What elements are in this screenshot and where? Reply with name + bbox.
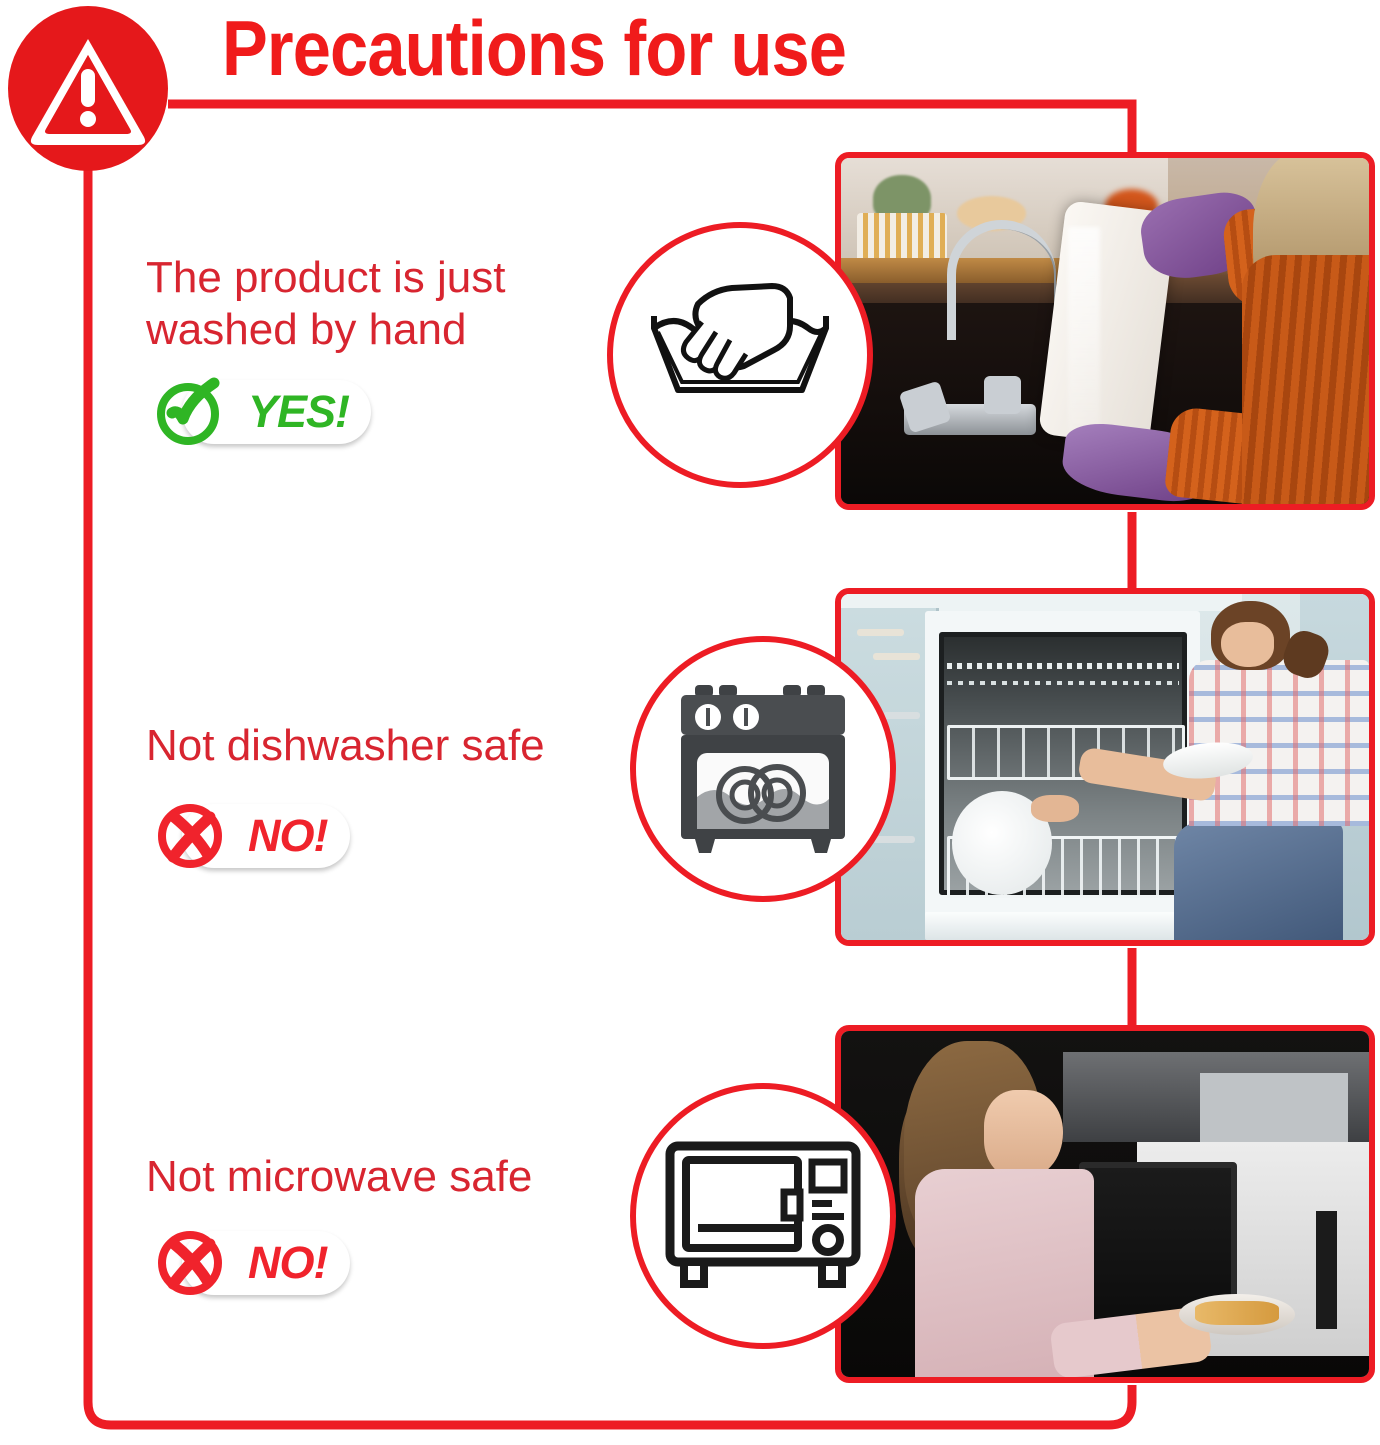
verdict-badge-no: NO! (152, 798, 350, 874)
section-caption: The product is just washed by hand (146, 252, 506, 356)
precautions-infographic: Precautions for use The product is just … (0, 0, 1380, 1445)
section-caption: Not dishwasher safe (146, 720, 545, 772)
verdict-label: NO! (248, 813, 328, 859)
page-title: Precautions for use (222, 4, 846, 92)
section-hand-wash: The product is just washed by hand YES! (0, 152, 1380, 514)
hand-wash-basin-icon (607, 222, 873, 488)
verdict-badge-yes: YES! (152, 374, 371, 450)
warning-triangle-icon (8, 6, 168, 171)
cross-circle-icon (152, 1224, 230, 1302)
section-dishwasher: Not dishwasher safe NO! (0, 588, 1380, 950)
verdict-badge-no: NO! (152, 1225, 350, 1301)
photo-dishwasher-loading (835, 588, 1375, 946)
section-microwave: Not microwave safe NO! (0, 1025, 1380, 1387)
verdict-label: NO! (248, 1240, 328, 1286)
section-caption: Not microwave safe (146, 1151, 532, 1203)
microwave-icon (630, 1083, 896, 1349)
check-circle-icon (152, 373, 230, 451)
verdict-label: YES! (248, 389, 349, 435)
cross-circle-icon (152, 797, 230, 875)
photo-microwave-use (835, 1025, 1375, 1383)
dishwasher-icon (630, 636, 896, 902)
photo-hand-washing (835, 152, 1375, 510)
